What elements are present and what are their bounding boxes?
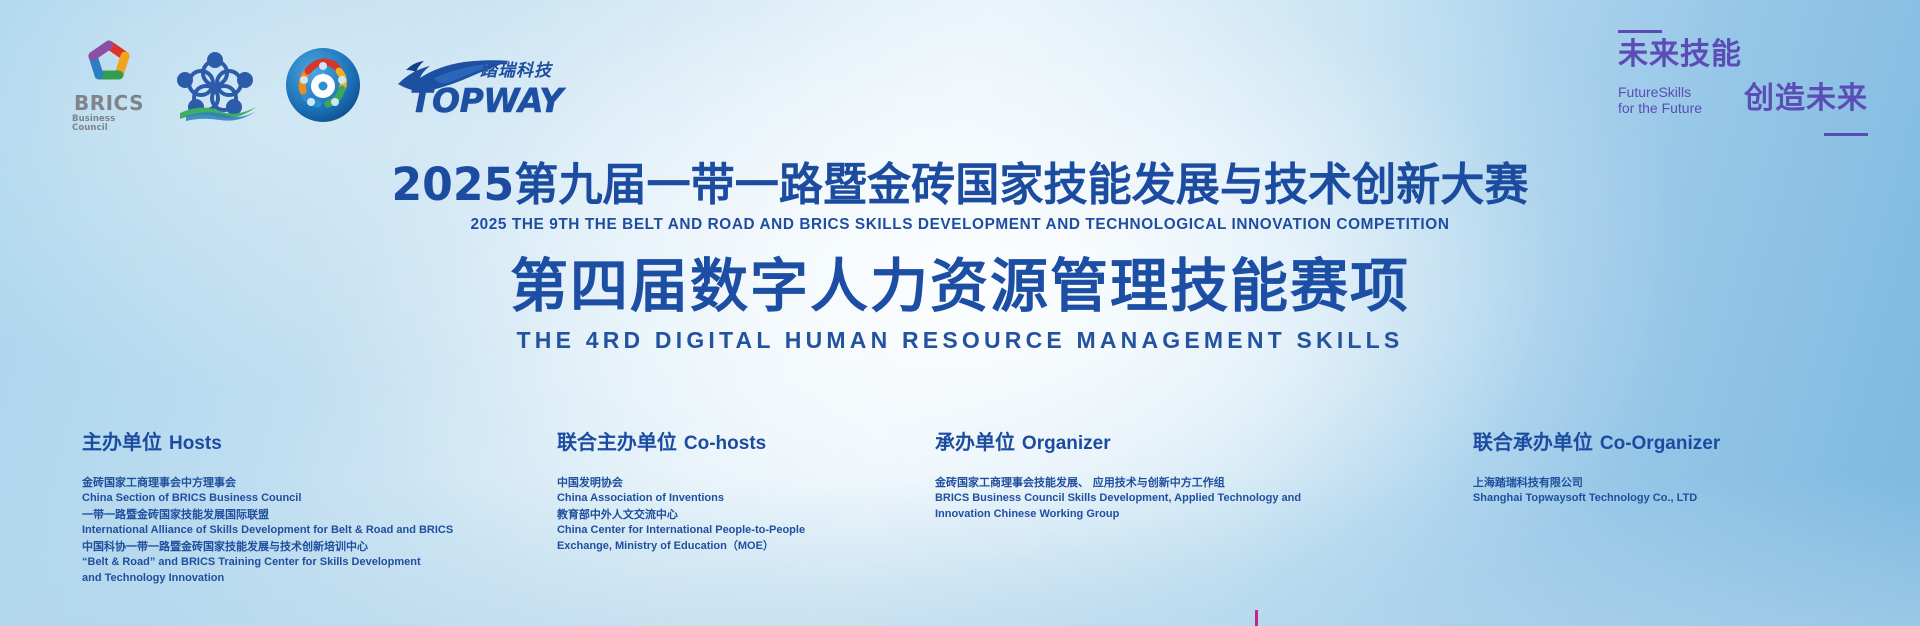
organizer-line: International Alliance of Skills Develop… xyxy=(82,523,557,539)
organizer-heading-en: Co-Organizer xyxy=(1600,433,1720,454)
organizer-heading-en: Organizer xyxy=(1022,433,1111,454)
organizer-heading: 联合主办单位 Co-hosts xyxy=(557,432,935,453)
organizer-line: China Center for International People-to… xyxy=(557,523,935,539)
brics-business-council-logo: BRICS Business Council xyxy=(72,38,146,132)
topway-wordmark: TOPWAY xyxy=(410,81,563,120)
main-title-cn: 2025第九届一带一路暨金砖国家技能发展与技术创新大赛 xyxy=(19,160,1901,210)
organizer-heading: 主办单位 Hosts xyxy=(82,432,557,453)
organizer-line: 教育部中外人文交流中心 xyxy=(557,507,935,523)
slogan-block: 未来技能 FutureSkills for the Future 创造未来 xyxy=(1618,28,1868,136)
brics-wordmark: BRICS xyxy=(74,93,144,113)
organizer-body: 金砖国家工商理事会中方理事会 China Section of BRICS Bu… xyxy=(82,475,557,587)
organizer-line: 一带一路暨金砖国家技能发展国际联盟 xyxy=(82,507,557,523)
organizer-line: China Association of Inventions xyxy=(557,491,935,507)
organizer-line: China Section of BRICS Business Council xyxy=(82,491,557,507)
slogan-rule-top xyxy=(1618,30,1662,33)
organizer-heading: 联合承办单位 Co-Organizer xyxy=(1473,432,1880,453)
organizer-body: 上海踏瑞科技有限公司 Shanghai Topwaysoft Technolog… xyxy=(1473,475,1880,507)
organizer-heading-cn: 承办单位 xyxy=(935,430,1015,454)
logo-row: BRICS Business Council xyxy=(72,38,554,132)
organizer-heading: 承办单位 Organizer xyxy=(935,432,1473,453)
organizer-heading-cn: 联合主办单位 xyxy=(557,430,677,454)
organizer-line: 中国发明协会 xyxy=(557,475,935,491)
alliance-pinwheel-icon xyxy=(172,49,258,121)
organizer-heading-cn: 联合承办单位 xyxy=(1473,430,1593,454)
organizer-column-hosts: 主办单位 Hosts 金砖国家工商理事会中方理事会 China Section … xyxy=(82,432,557,587)
organizer-line: 中国科协一带一路暨金砖国家技能发展与技术创新培训中心 xyxy=(82,539,557,555)
organizer-body: 金砖国家工商理事会技能发展、 应用技术与创新中方工作组 BRICS Busine… xyxy=(935,475,1473,523)
organizer-column-coorganizer: 联合承办单位 Co-Organizer 上海踏瑞科技有限公司 Shanghai … xyxy=(1473,432,1880,587)
organizer-line: 上海踏瑞科技有限公司 xyxy=(1473,475,1880,491)
slogan-en-line1: FutureSkills xyxy=(1618,84,1702,100)
slogan-en: FutureSkills for the Future xyxy=(1618,84,1702,116)
slogan-cn-line2: 创造未来 xyxy=(1744,84,1868,114)
organizer-columns: 主办单位 Hosts 金砖国家工商理事会中方理事会 China Section … xyxy=(0,432,1920,587)
organizer-column-organizer: 承办单位 Organizer 金砖国家工商理事会技能发展、 应用技术与创新中方工… xyxy=(935,432,1473,587)
brics-star-icon xyxy=(81,38,137,90)
slogan-en-line2: for the Future xyxy=(1618,100,1702,116)
brics-subtitle: Business Council xyxy=(72,115,146,132)
organizer-heading-cn: 主办单位 xyxy=(82,430,162,454)
slogan-cn-line1: 未来技能 xyxy=(1618,40,1742,70)
main-title-en: 2025 THE 9TH THE BELT AND ROAD AND BRICS… xyxy=(10,216,1911,234)
organizer-line: 金砖国家工商理事会中方理事会 xyxy=(82,475,557,491)
topway-logo: 踏瑞科技 TOPWAY xyxy=(394,52,554,118)
sub-title-en: THE 4RD DIGITAL HUMAN RESOURCE MANAGEMEN… xyxy=(0,327,1920,354)
organizer-line: Innovation Chinese Working Group xyxy=(935,507,1473,523)
organizer-column-cohosts: 联合主办单位 Co-hosts 中国发明协会 China Association… xyxy=(557,432,935,587)
organizer-heading-en: Co-hosts xyxy=(684,433,766,454)
skills-emblem-icon xyxy=(284,46,362,124)
competition-banner: BRICS Business Council xyxy=(0,0,1920,626)
organizer-line: Exchange, Ministry of Education（MOE） xyxy=(557,539,935,555)
slogan-rule-bottom xyxy=(1824,133,1868,136)
topway-chinese-name: 踏瑞科技 xyxy=(480,56,552,81)
bottom-tick-marker xyxy=(1255,610,1258,626)
sub-title-cn: 第四届数字人力资源管理技能赛项 xyxy=(0,254,1920,319)
organizer-body: 中国发明协会 China Association of Inventions 教… xyxy=(557,475,935,555)
organizer-line: Shanghai Topwaysoft Technology Co., LTD xyxy=(1473,491,1880,507)
organizer-line: BRICS Business Council Skills Developmen… xyxy=(935,491,1473,507)
organizer-line: 金砖国家工商理事会技能发展、 应用技术与创新中方工作组 xyxy=(935,475,1473,491)
organizer-line: “Belt & Road” and BRICS Training Center … xyxy=(82,555,557,571)
title-block: 2025第九届一带一路暨金砖国家技能发展与技术创新大赛 2025 THE 9TH… xyxy=(0,160,1920,354)
organizer-heading-en: Hosts xyxy=(169,433,222,454)
organizer-line: and Technology Innovation xyxy=(82,571,557,587)
